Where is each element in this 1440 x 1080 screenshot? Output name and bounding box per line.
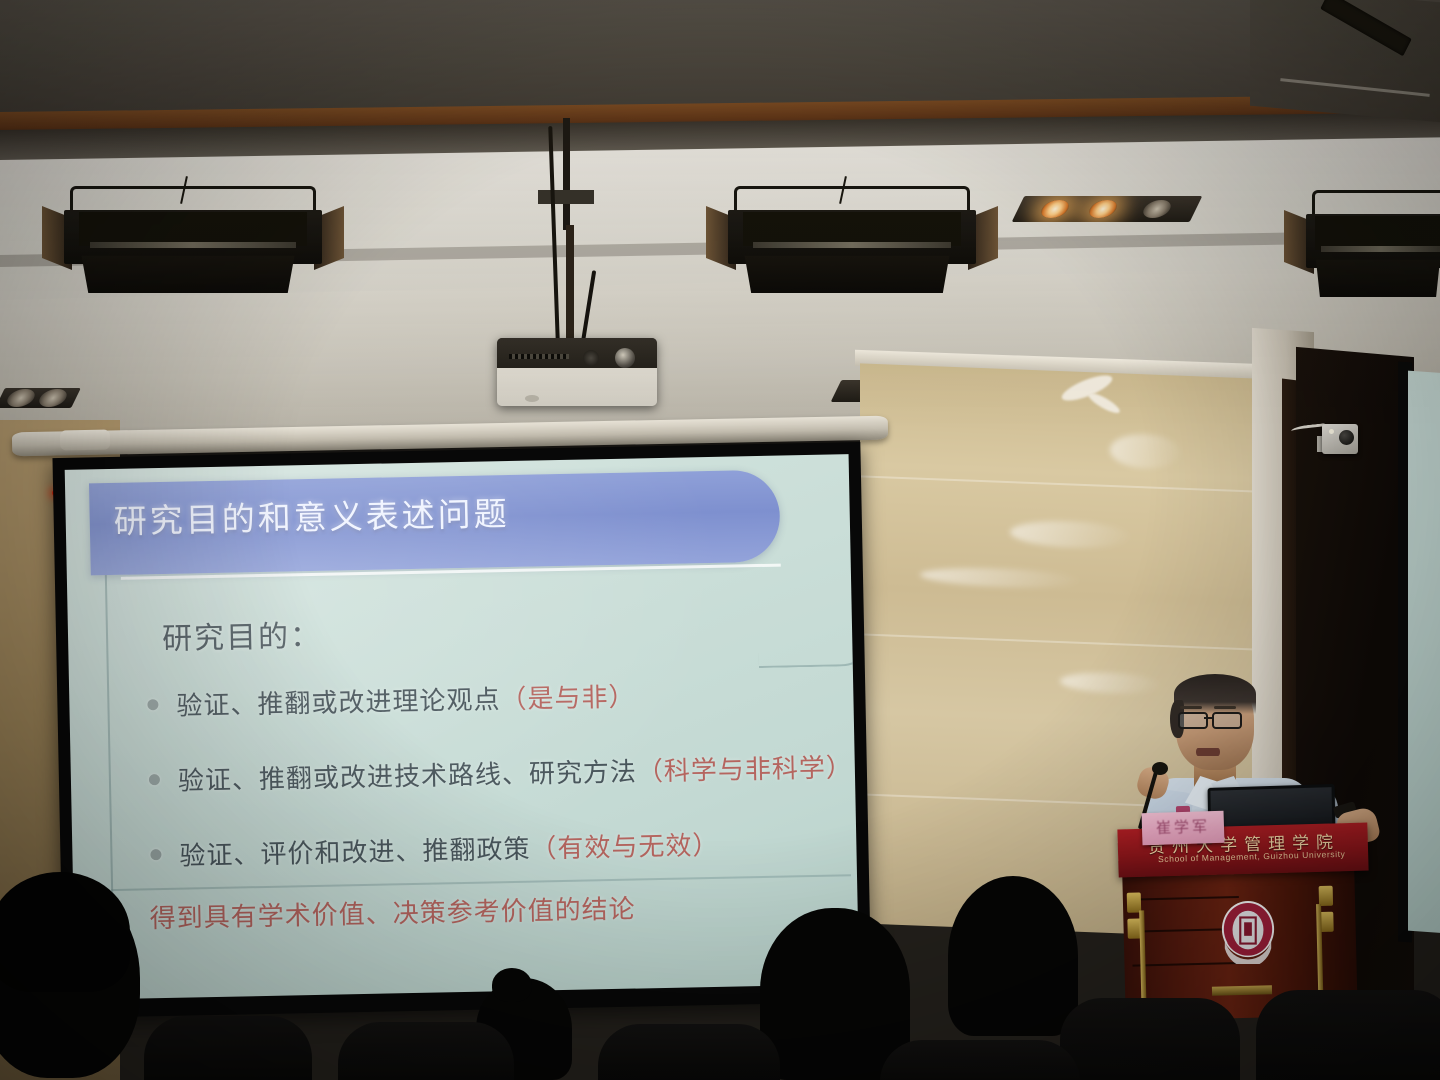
slide-bullet-list: 验证、推翻或改进理论观点（是与非） 验证、推翻或改进技术路线、研究方法（科学与非… — [147, 672, 851, 911]
auditorium-seat — [144, 1016, 312, 1080]
downlight-bulb-off — [1140, 200, 1175, 218]
barn-door-top — [1315, 216, 1440, 250]
marble-streak — [1110, 433, 1180, 470]
projector-drop-pole — [566, 225, 574, 345]
lecture-hall-photo: 研究目的和意义表述问题 研究目的： 验证、推翻或改进理论观点（是与非） 验证、推… — [0, 0, 1440, 1080]
stage-light-lens-bar — [1321, 246, 1440, 252]
stage-light-lens-bar — [90, 242, 296, 248]
audience-head-topknot — [492, 968, 532, 1002]
podium-nameplate — [1212, 985, 1272, 995]
auditorium-seat — [598, 1024, 780, 1080]
audience-hair — [0, 872, 130, 992]
marble-streak — [1010, 519, 1130, 550]
marble-seam — [860, 475, 1310, 494]
podium-gold-rail — [1139, 910, 1146, 1006]
eyeglasses-icon — [1212, 712, 1242, 729]
speaker-mouth — [1196, 748, 1220, 756]
slide-title: 研究目的和意义表述问题 — [113, 487, 510, 543]
barn-door-top — [79, 212, 306, 246]
auditorium-seat — [1060, 998, 1240, 1080]
bullet-highlight: （是与非） — [500, 683, 636, 716]
stage-light-lens-bar — [753, 242, 951, 248]
downlight-bulb — [1038, 200, 1073, 218]
stage-light-right — [1306, 190, 1440, 308]
stage-light-left — [64, 186, 322, 306]
projector-mount-rod — [563, 118, 570, 230]
projector-focus-knob — [583, 350, 599, 366]
projector-ceiling-plate — [538, 190, 594, 204]
screen-housing-cap — [60, 430, 110, 451]
bullet-text: 验证、评价和改进、推翻政策（有效与无效） — [179, 825, 720, 873]
speaker-name-text: 崔学军 — [1142, 815, 1225, 839]
barn-door-bottom — [744, 256, 949, 293]
camera-lens-icon — [1339, 430, 1354, 445]
downlight-bulb-off — [4, 389, 39, 407]
barn-door-bottom — [1316, 260, 1440, 297]
auditorium-seat — [338, 1022, 514, 1080]
auditorium-seat — [880, 1040, 1080, 1080]
barn-door-top — [743, 212, 961, 246]
presentation-slide: 研究目的和意义表述问题 研究目的： 验证、推翻或改进理论观点（是与非） 验证、推… — [65, 454, 859, 1000]
projector-lens — [615, 348, 635, 368]
speaker-eyebrow — [1180, 706, 1202, 709]
bullet-dot-icon — [149, 774, 160, 785]
audience-head — [948, 876, 1078, 1036]
marble-streak — [920, 566, 1080, 590]
slide-bullet-item: 验证、评价和改进、推翻政策（有效与无效） — [150, 822, 851, 873]
marble-seam — [860, 633, 1310, 652]
eyeglasses-bridge — [1204, 717, 1212, 719]
projector-foot — [525, 395, 539, 402]
ceiling-projector — [497, 338, 657, 406]
bullet-dot-icon — [150, 849, 161, 860]
camera-led-icon — [1329, 429, 1334, 434]
barn-door-bottom — [81, 256, 294, 293]
projector-vents — [509, 354, 569, 359]
bullet-highlight: （科学与非科学） — [637, 753, 854, 787]
slide-bullet-item: 验证、推翻或改进理论观点（是与非） — [147, 672, 848, 723]
bullet-dot-icon — [147, 699, 158, 710]
downlight-center-right — [1012, 196, 1203, 222]
slide-title-underline — [121, 564, 781, 580]
slide-subtitle: 研究目的： — [162, 611, 323, 658]
bullet-text: 验证、推翻或改进理论观点（是与非） — [176, 677, 636, 723]
ac-vent-panel — [1250, 0, 1440, 122]
downlight-bulb-off — [36, 389, 71, 407]
projection-screen: 研究目的和意义表述问题 研究目的： 验证、推翻或改进理论观点（是与非） 验证、推… — [52, 442, 871, 1018]
slide-bullet-item: 验证、推翻或改进技术路线、研究方法（科学与非科学） — [149, 747, 850, 798]
microphone-icon — [1152, 762, 1168, 775]
stage-light-center — [728, 186, 976, 306]
audience-head — [760, 908, 910, 1080]
speaker-eyebrow — [1214, 706, 1236, 709]
eyeglasses-icon — [1178, 712, 1208, 729]
bullet-text: 验证、推翻或改进技术路线、研究方法（科学与非科学） — [178, 747, 854, 798]
university-emblem-icon — [1219, 898, 1277, 964]
ac-vent-slot — [1320, 0, 1411, 56]
auditorium-seat — [1256, 990, 1440, 1080]
downlight-left — [0, 388, 81, 408]
downlight-bulb — [1086, 200, 1121, 218]
marble-streak — [1060, 671, 1160, 695]
speaker-name-card: 崔学军 — [1142, 811, 1225, 846]
bullet-highlight: （有效与无效） — [530, 831, 720, 865]
secondary-projection-screen — [1408, 371, 1440, 934]
